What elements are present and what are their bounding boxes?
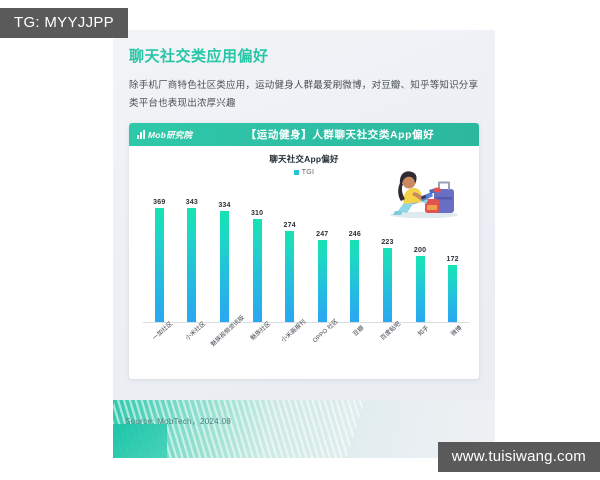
x-axis-tick: 一加社区: [143, 325, 176, 377]
bar: [220, 211, 229, 323]
bar-value: 334: [218, 202, 230, 209]
bar-column: 343: [176, 199, 209, 323]
bar-value: 172: [447, 256, 459, 263]
x-axis-tick: 知乎: [404, 325, 437, 377]
bar-value: 246: [349, 231, 361, 238]
x-axis-tick-label: 豆瓣: [350, 323, 365, 338]
telegram-tag-overlay: TG: MYYJJPP: [0, 8, 128, 38]
legend-label-tgi: TGI: [302, 169, 315, 176]
chart-body: 聊天社交App偏好 TGI: [129, 153, 479, 379]
x-axis-tick-label: 微博: [448, 323, 463, 338]
x-axis-tick: 豆瓣: [339, 325, 372, 377]
chart-banner-title: 【运动健身】人群聊天社交类App偏好: [129, 127, 479, 142]
page-title: 聊天社交类应用偏好: [129, 48, 479, 66]
bar: [155, 208, 164, 323]
chart-card: Mob研究院 【运动健身】人群聊天社交类App偏好 聊天社交App偏好 TGI: [129, 123, 479, 379]
bar-column: 200: [404, 199, 437, 323]
bar-value: 274: [284, 222, 296, 229]
bar-column: 223: [371, 199, 404, 323]
bar: [350, 240, 359, 323]
x-axis-tick: 小米社区: [176, 325, 209, 377]
bar-value: 223: [381, 239, 393, 246]
bar-column: 246: [339, 199, 372, 323]
x-axis-tick: 魅族视频资讯版: [208, 325, 241, 377]
bar-value: 310: [251, 210, 263, 217]
bar-column: 247: [306, 199, 339, 323]
bar-column: 274: [273, 199, 306, 323]
bar-value: 200: [414, 247, 426, 254]
bar: [383, 248, 392, 323]
bar-column: 369: [143, 199, 176, 323]
footer-accent-block: [113, 424, 167, 458]
x-axis-tick: 百度贴吧: [371, 325, 404, 377]
bar-column: 172: [436, 199, 469, 323]
slide-card: 聊天社交类应用偏好 除手机厂商特色社区类应用，运动健身人群最爱刷微博，对豆瓣、知…: [113, 30, 495, 458]
x-axis-tick: 魅族社区: [241, 325, 274, 377]
x-axis-labels: 一加社区 小米社区 魅族视频资讯版 魅族社区 小米画报刊 OPPO 社区 豆瓣 …: [143, 325, 469, 377]
bar-value: 247: [316, 231, 328, 238]
summary-paragraph: 除手机厂商特色社区类应用，运动健身人群最爱刷微博，对豆瓣、知乎等知识分享类平台也…: [129, 77, 479, 112]
bar: [253, 219, 262, 323]
source-note: Source: MobTech，2024.08: [125, 416, 231, 427]
x-axis-tick: OPPO 社区: [306, 325, 339, 377]
x-axis-tick-label: 知乎: [416, 323, 431, 338]
slide-content: 聊天社交类应用偏好 除手机厂商特色社区类应用，运动健身人群最爱刷微博，对豆瓣、知…: [113, 30, 495, 379]
bar: [416, 256, 425, 323]
bar-value: 343: [186, 199, 198, 206]
chart-banner: Mob研究院 【运动健身】人群聊天社交类App偏好: [129, 123, 479, 146]
legend-swatch-tgi: [294, 170, 299, 175]
bar: [187, 208, 196, 323]
bar: [318, 240, 327, 323]
bar: [285, 231, 294, 323]
bar-column: 334: [208, 199, 241, 323]
x-axis-tick: 小米画报刊: [273, 325, 306, 377]
site-watermark: www.tuisiwang.com: [438, 442, 600, 472]
bar-series-tgi: 369 343 334 310: [143, 199, 469, 323]
bar: [448, 265, 457, 323]
bar-value: 369: [153, 199, 165, 206]
bar-column: 310: [241, 199, 274, 323]
chart-plot-area: 369 343 334 310: [143, 199, 469, 323]
x-axis-tick: 微博: [436, 325, 469, 377]
